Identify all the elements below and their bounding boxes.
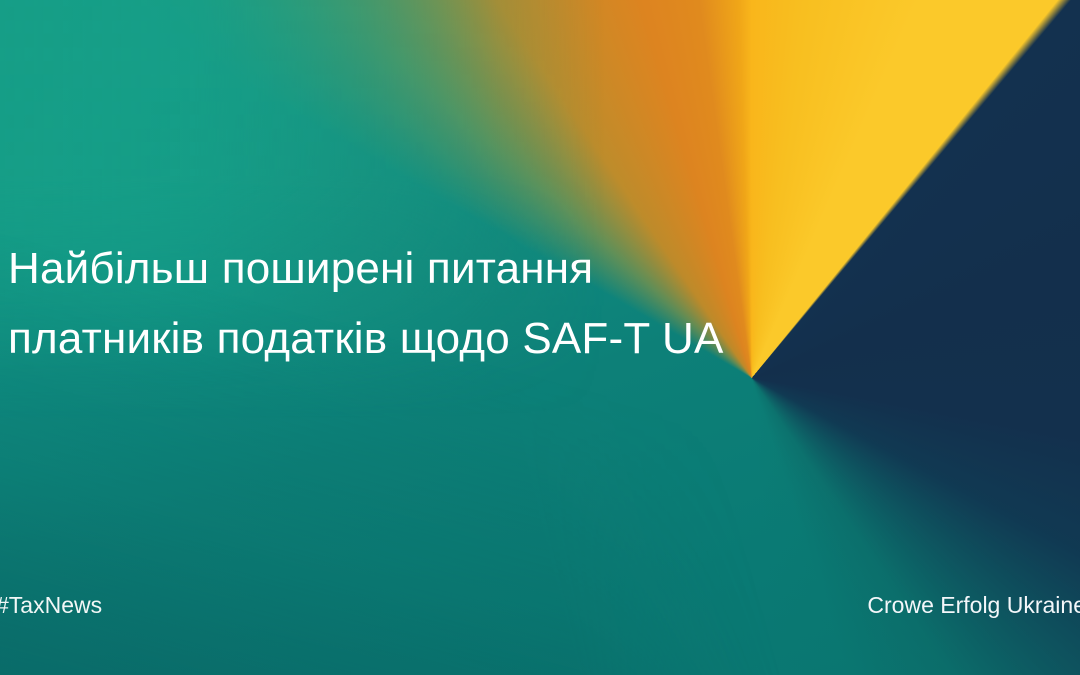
promo-banner: Найбільш поширені питання платників пода… [0, 0, 1080, 675]
headline: Найбільш поширені питання платників пода… [8, 234, 1008, 374]
hashtag-label: #TaxNews [0, 590, 102, 620]
headline-line-2: платників податків щодо SAF-T UA [8, 304, 1008, 374]
headline-line-1: Найбільш поширені питання [8, 234, 1008, 304]
brand-label: Crowe Erfolg Ukraine [867, 590, 1080, 620]
